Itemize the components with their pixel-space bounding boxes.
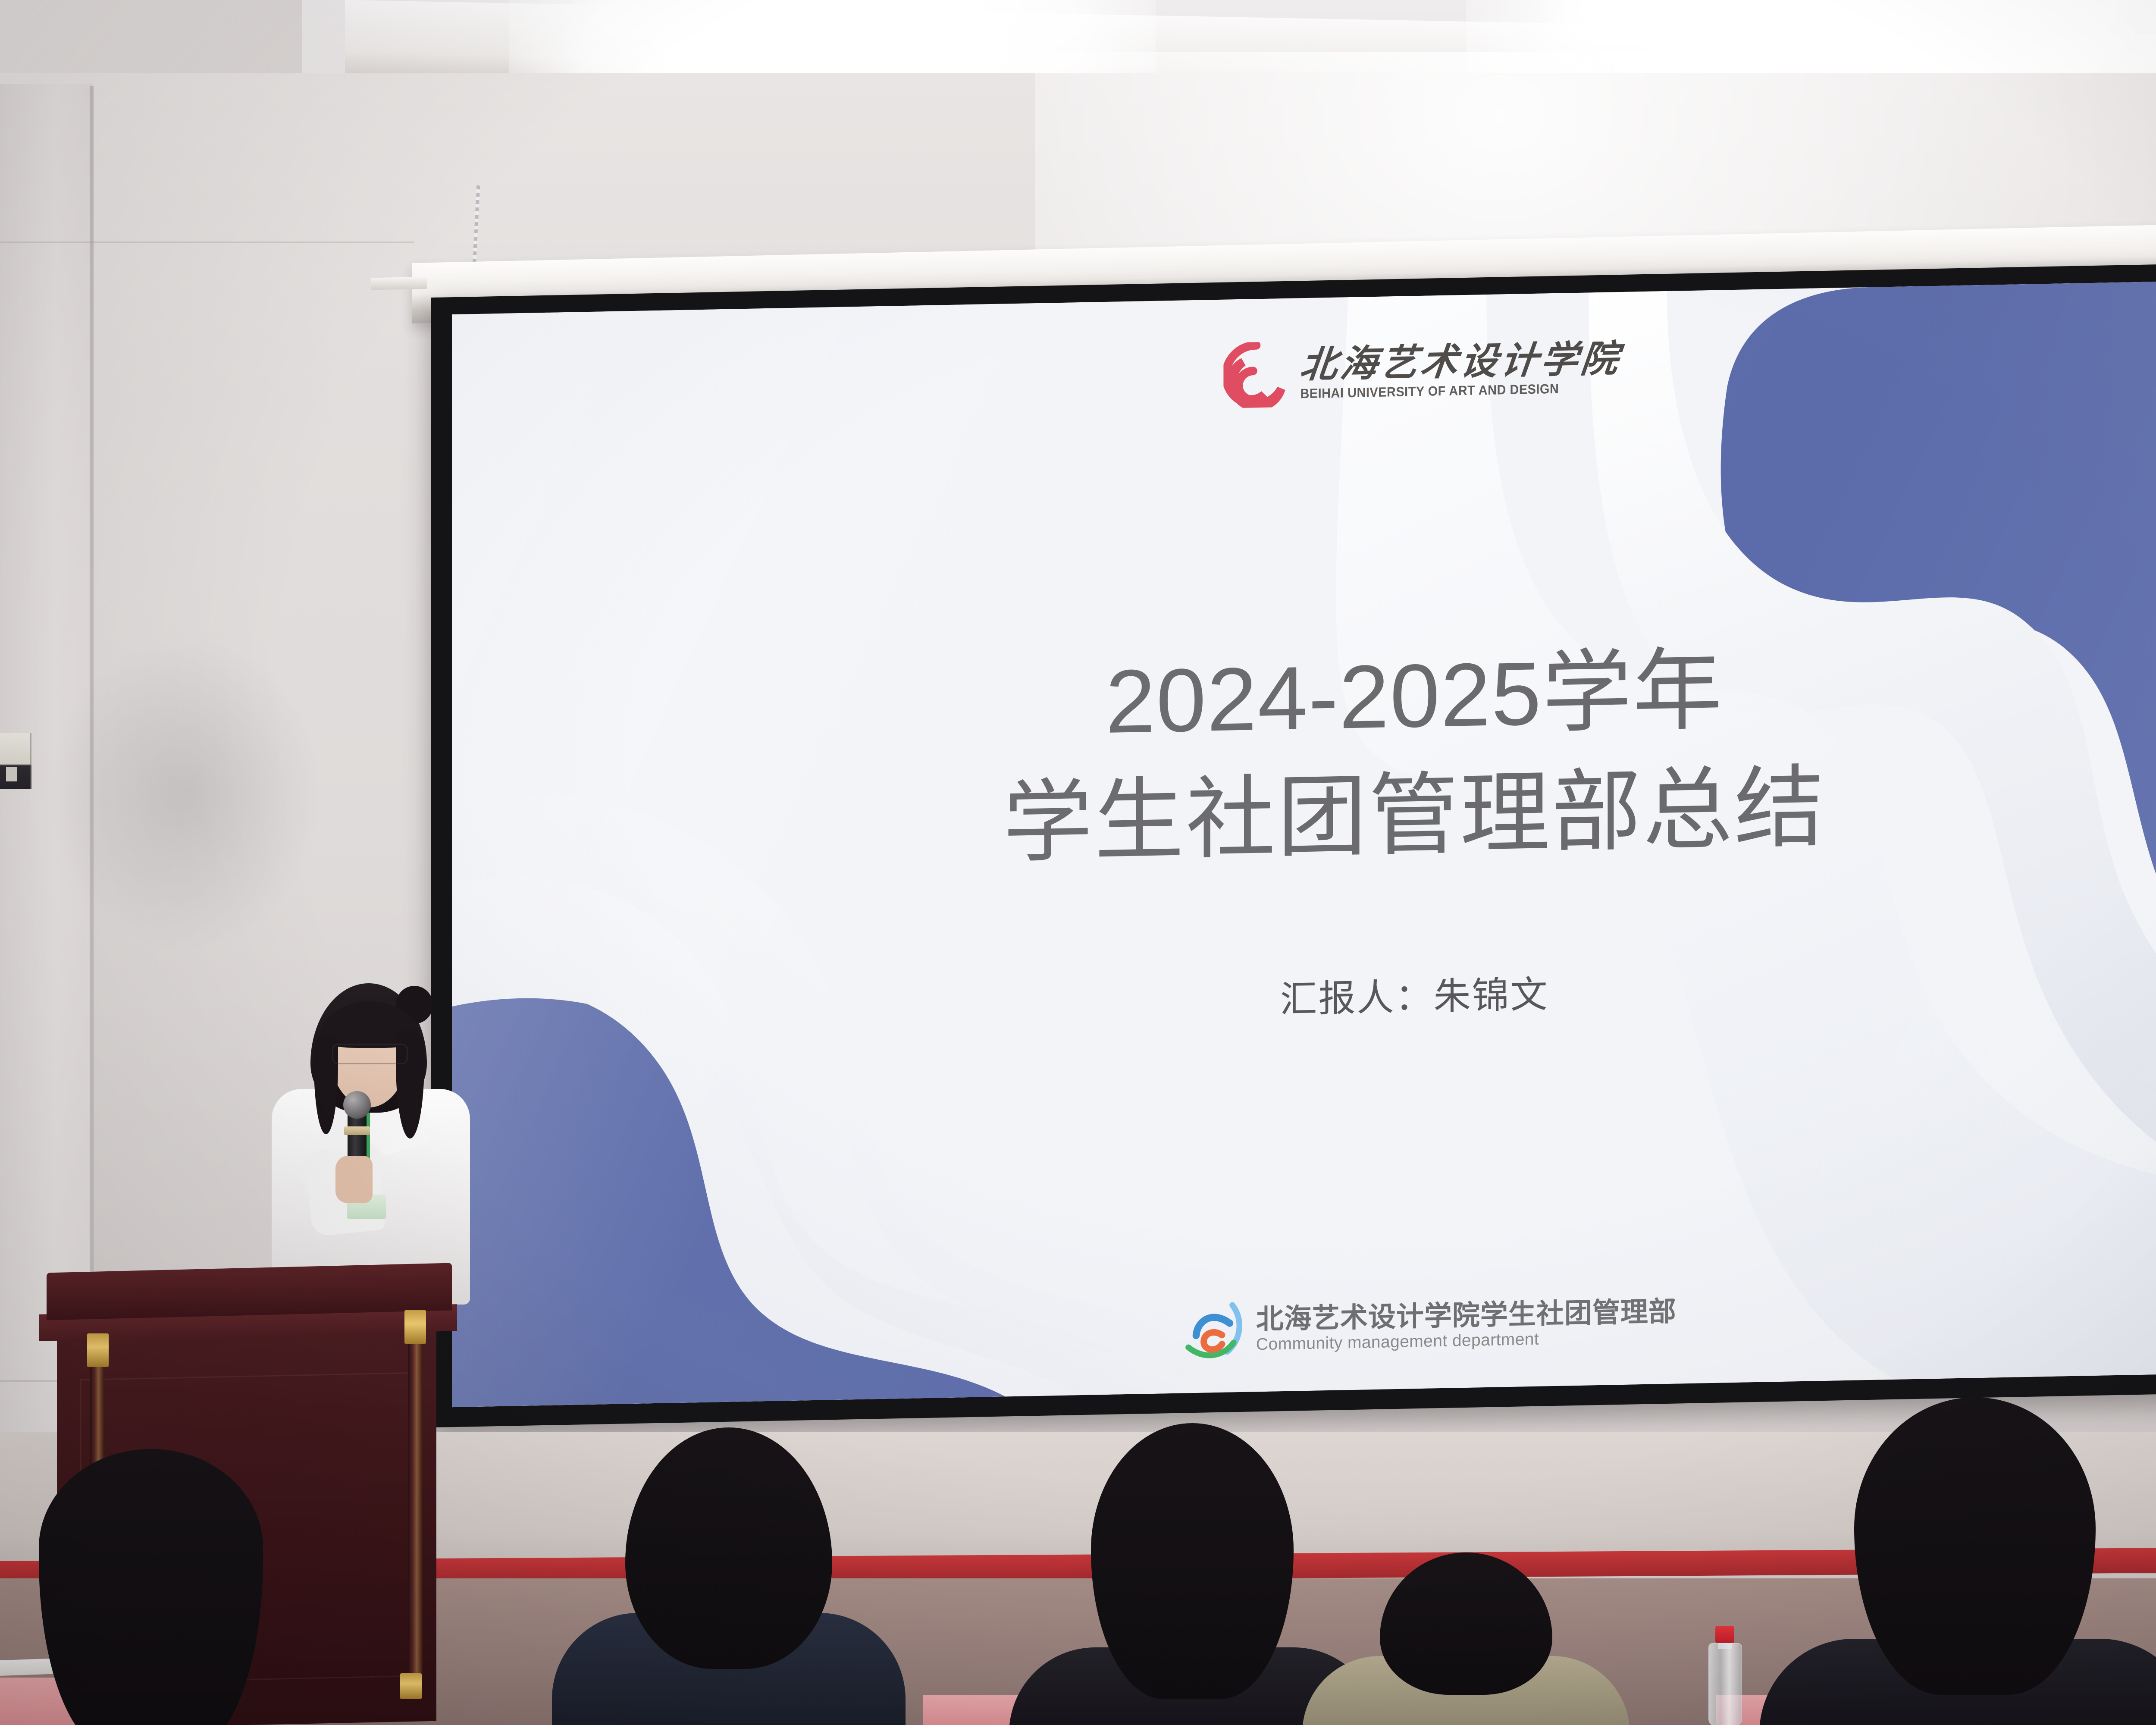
outlet-slot [6,767,17,781]
beihai-swirl-logo-icon [1223,342,1289,408]
audience-member-1 [13,1449,289,1725]
audience-5-hair [1854,1397,2096,1695]
speaker-presenter [259,983,487,1302]
audience-4-hair [1380,1552,1552,1695]
slide-surface: 北海艺术设计学院 BEIHAI UNIVERSITY OF ART AND DE… [452,277,2156,1407]
podium-brass-foot [400,1673,422,1699]
speaker-glasses [332,1044,408,1064]
department-logo-block: 北海艺术设计学院学生社团管理部 Community management dep… [1182,1289,1677,1363]
water-bottle-1 [1708,1626,1743,1725]
wall-outlet [0,733,31,789]
podium-top-surface [47,1263,452,1320]
department-name-group: 北海艺术设计学院学生社团管理部 Community management dep… [1256,1296,1677,1354]
speaker-hand [335,1156,373,1203]
screen-housing-bracket-left [371,277,427,290]
slide-title: 2024-2025学年 学生社团管理部总结 [452,618,2156,894]
audience-1-hair [39,1449,263,1725]
podium-brass-left [87,1333,109,1367]
audience-3-hair [1091,1423,1294,1699]
community-management-logo-icon [1182,1297,1247,1363]
university-name-group: 北海艺术设计学院 BEIHAI UNIVERSITY OF ART AND DE… [1300,340,1621,401]
microphone-band-upper [344,1126,370,1135]
podium-brass-right [404,1310,426,1344]
audience-member-2 [552,1427,906,1725]
wall-seam-upper [0,241,414,243]
projector-screen: 北海艺术设计学院 BEIHAI UNIVERSITY OF ART AND DE… [431,260,2156,1427]
audience-member-4 [1302,1552,1630,1725]
audience-2-hair [625,1427,832,1669]
slide-presenter: 汇报人：朱锦文 [452,948,2156,1039]
water-bottle-1-cap [1715,1626,1734,1643]
university-name-cn: 北海艺术设计学院 [1298,340,1623,383]
audience-member-5 [1785,1397,2156,1725]
photo-scene: 北海艺术设计学院 BEIHAI UNIVERSITY OF ART AND DE… [0,0,2156,1725]
university-logo-block: 北海艺术设计学院 BEIHAI UNIVERSITY OF ART AND DE… [1223,335,1621,408]
wall-shadow-left [52,638,319,949]
water-bottle-1-body [1708,1643,1742,1725]
podium-column-right [408,1333,423,1679]
slide-content: 北海艺术设计学院 BEIHAI UNIVERSITY OF ART AND DE… [452,277,2156,1407]
microphone-head [343,1091,371,1119]
